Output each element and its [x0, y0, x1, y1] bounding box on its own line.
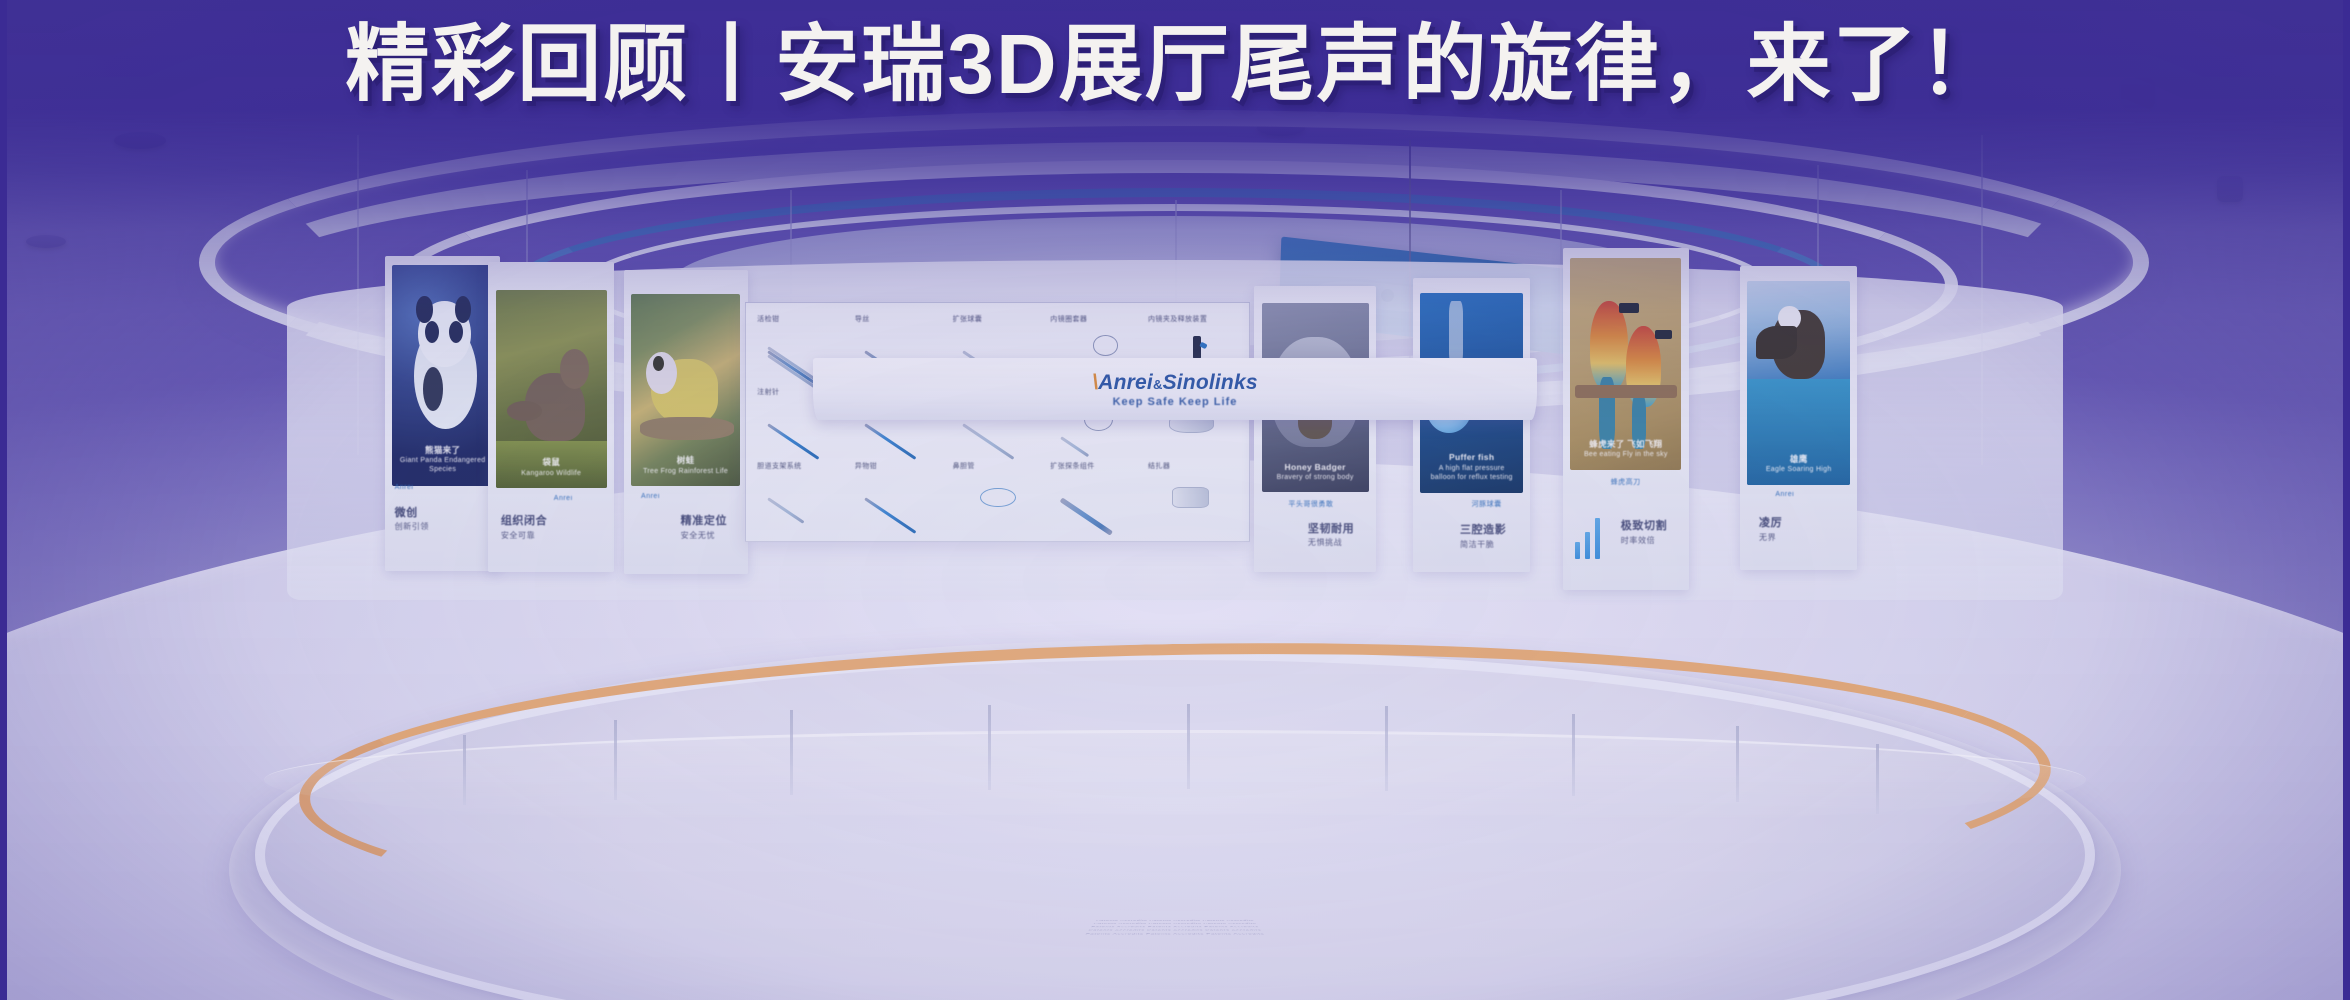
stage-floor-text-row: Patents Accredits Patents Accredits Pate…: [730, 932, 1620, 936]
hall-room: 熊猫来了 Giant Panda Endangered Species Anre…: [7, 0, 2343, 1000]
page-title: 精彩回顾丨安瑞3D展厅尾声的旋律，来了！: [0, 16, 2350, 113]
stage-post: [790, 710, 793, 795]
stage-post: [1572, 714, 1575, 796]
stage-post: [463, 735, 466, 805]
stage-post-group: [7, 0, 2343, 1000]
stage-post: [1187, 704, 1190, 789]
right-border: [2343, 0, 2350, 1000]
exhibition-hall-banner: 熊猫来了 Giant Panda Endangered Species Anre…: [0, 0, 2350, 1000]
stage-post: [1385, 706, 1388, 791]
left-border: [0, 0, 7, 1000]
stage-post: [988, 705, 991, 790]
stage-post: [1876, 744, 1879, 814]
stage-post: [614, 720, 617, 800]
stage-post: [1736, 726, 1739, 802]
